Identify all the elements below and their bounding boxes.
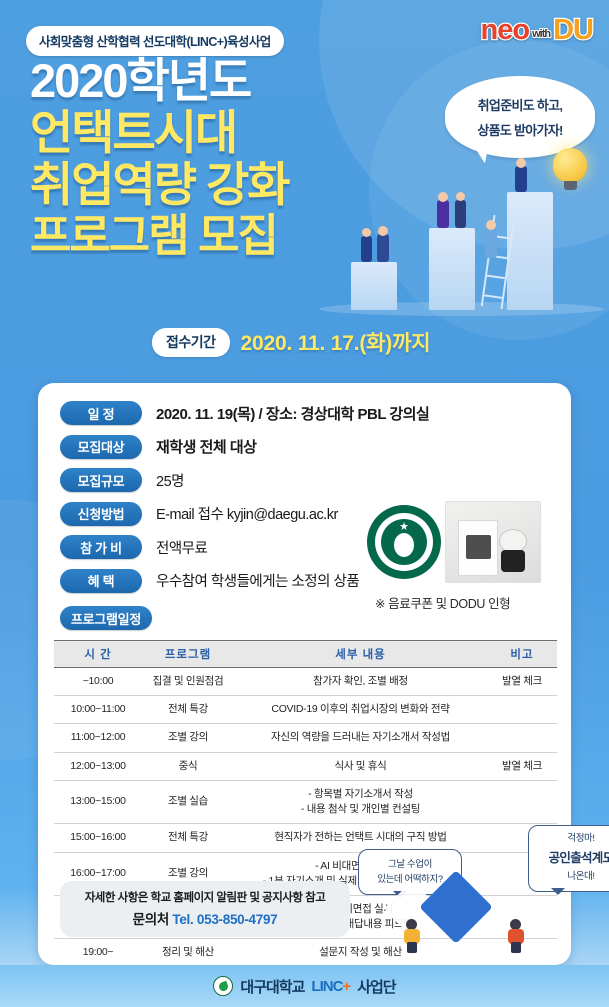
info-row-label: 참 가 비 [60,535,142,559]
university-seal-icon [213,976,233,996]
page-title: 2020학년도 언택트시대 취업역량 강화 프로그램 모집 [30,58,289,258]
illustration-person-4 [455,200,466,228]
schedule-row: 10:00~11:00전체 특강COVID-19 이후의 취업시장의 변화와 전… [54,696,557,724]
program-badge: 사회맞춤형 산학협력 선도대학(LINC+)육성사업 [26,26,284,56]
schedule-row: 13:00~15:00조별 실습- 항목별 자기소개서 작성- 내용 첨삭 및 … [54,780,557,823]
footer-linc-logo: LINC+ [311,978,350,995]
gift-note-text: ※ 음료쿠폰 및 DODU 인형 [369,593,555,612]
question-bubble-line-1: 그날 수업이 [388,859,432,870]
logo-du-text: DU [553,14,593,47]
schedule-row: 15:00~16:00전체 특강현직자가 전하는 언택트 시대의 구직 방법 [54,824,557,852]
info-row: 모집규모25명 [60,468,553,492]
footer-logo-band: 대구대학교 LINC+ 사업단 [0,965,609,1007]
promo-bubble-line-1: 취업준비도 하고, [478,95,563,114]
schedule-cell-time: 11:00~12:00 [54,724,142,752]
schedule-row: 11:00~12:00조별 강의자신의 역량을 드러내는 자기소개서 작성법 [54,724,557,752]
illustration-bar-3 [507,192,553,310]
contact-box: 자세한 사항은 학교 홈페이지 알림판 및 공지사항 참고 문의처 Tel. 0… [60,881,350,937]
illustration-person-5 [515,166,527,192]
schedule-cell-detail: COVID-19 이후의 취업시장의 변화와 전략 [234,696,487,724]
details-card: 일 정2020. 11. 19(목) / 장소: 경상대학 PBL 강의실모집대… [38,383,571,965]
schedule-cell-detail: 자신의 역량을 드러내는 자기소개서 작성법 [234,724,487,752]
info-row-value: 재학생 전체 대상 [156,436,256,457]
schedule-column-header: 시 간 [54,641,142,668]
logo-with-text: with [532,28,550,40]
answer-bubble-highlight: 공인출석계도 [534,849,609,868]
title-line-2: 언택트시대 [30,110,289,155]
puzzle-illustration: 그날 수업이 있는데 어떡하지? 걱정마! 공인출석계도 나온대! [368,855,568,955]
figure-yellow [404,919,420,953]
illustration-person-1 [361,236,372,262]
promo-bubble-line-2: 상품도 받아가자! [477,120,562,139]
schedule-cell-note [487,696,557,724]
contact-phone-prefix: 문의처 [133,912,173,927]
gift-box-graphic [458,520,498,576]
info-row-value: 2020. 11. 19(목) / 장소: 경상대학 PBL 강의실 [156,403,429,424]
info-row: 일 정2020. 11. 19(목) / 장소: 경상대학 PBL 강의실 [60,401,553,425]
schedule-cell-note: 발열 체크 [487,752,557,780]
info-row: 모집대상재학생 전체 대상 [60,435,553,459]
dodu-doll-graphic [496,529,530,577]
schedule-cell-note: 발열 체크 [487,668,557,696]
schedule-cell-program: 전체 특강 [142,696,234,724]
schedule-cell-program: 조별 강의 [142,724,234,752]
footer-suffix: 사업단 [357,976,395,997]
schedule-row: 12:00~13:00중식식사 및 휴식발열 체크 [54,752,557,780]
answer-bubble-line-3: 나온대! [567,871,594,882]
schedule-cell-time: 12:00~13:00 [54,752,142,780]
schedule-header-row: 시 간프로그램세부 내용비고 [54,641,557,668]
dodu-doll-photo [445,501,541,583]
footer-university-name: 대구대학교 [240,976,304,997]
schedule-cell-program: 정리 및 해산 [142,939,234,967]
illustration-bar-1 [351,262,397,310]
schedule-cell-time: 13:00~15:00 [54,780,142,823]
schedule-cell-program: 조별 실습 [142,780,234,823]
info-row-value: 전액무료 [156,537,207,558]
illustration-person-3 [437,200,449,228]
info-row-value: 우수참여 학생들에게는 소정의 상품 [156,570,359,591]
info-row-value: E-mail 접수 kyjin@daegu.ac.kr [156,503,338,524]
illustration-person-2 [377,234,389,262]
info-row-label: 모집대상 [60,435,142,459]
logo-neo-text: neo [481,14,530,47]
deadline-label: 접수기간 [152,328,230,357]
answer-bubble-line-1: 걱정마! [567,833,594,844]
schedule-cell-program: 집결 및 인원점검 [142,668,234,696]
schedule-cell-time: ~10:00 [54,668,142,696]
contact-note: 자세한 사항은 학교 홈페이지 알림판 및 공지사항 참고 [66,889,344,905]
schedule-cell-program: 중식 [142,752,234,780]
deadline-value: 2020. 11. 17.(화)까지 [241,327,431,357]
schedule-cell-time: 15:00~16:00 [54,824,142,852]
info-row-label: 혜 택 [60,569,142,593]
schedule-cell-detail: 식사 및 휴식 [234,752,487,780]
schedule-column-header: 비고 [487,641,557,668]
schedule-cell-note [487,780,557,823]
poster-canvas: 사회맞춤형 산학협력 선도대학(LINC+)육성사업 neo with DU 2… [0,0,609,1007]
figure-red [508,919,524,953]
contact-phone-line: 문의처 Tel. 053-850-4797 [66,908,344,928]
schedule-cell-detail: - 항목별 자기소개서 작성- 내용 첨삭 및 개인별 컨설팅 [234,780,487,823]
schedule-cell-time: 19:00~ [54,939,142,967]
info-row-label: 모집규모 [60,468,142,492]
illustration-bar-2 [429,228,475,310]
schedule-column-header: 세부 내용 [234,641,487,668]
schedule-section-label: 프로그램일정 [60,606,152,630]
schedule-cell-detail: 참가자 확인, 조별 배정 [234,668,487,696]
starbucks-logo-icon [367,505,441,579]
schedule-column-header: 프로그램 [142,641,234,668]
info-row-label: 신청방법 [60,502,142,526]
info-row-value: 25명 [156,470,184,491]
schedule-cell-time: 10:00~11:00 [54,696,142,724]
neo-with-du-logo: neo with DU [481,14,593,47]
info-row-label: 일 정 [60,401,142,425]
answer-bubble: 걱정마! 공인출석계도 나온대! [528,825,609,892]
title-line-4: 프로그램 모집 [30,214,289,257]
title-line-3: 취업역량 강화 [30,162,289,207]
title-line-1: 2020학년도 [30,58,289,103]
career-growth-illustration [309,176,609,316]
schedule-cell-detail: 현직자가 전하는 언택트 시대의 구직 방법 [234,824,487,852]
schedule-cell-note [487,724,557,752]
schedule-cell-program: 전체 특강 [142,824,234,852]
contact-phone-number[interactable]: Tel. 053-850-4797 [172,912,277,927]
application-deadline: 접수기간 2020. 11. 17.(화)까지 [152,327,430,357]
schedule-row: ~10:00집결 및 인원점검참가자 확인, 조별 배정발열 체크 [54,668,557,696]
promo-speech-bubble: 취업준비도 하고, 상품도 받아가자! [445,76,595,158]
illustration-person-climbing [485,228,497,258]
